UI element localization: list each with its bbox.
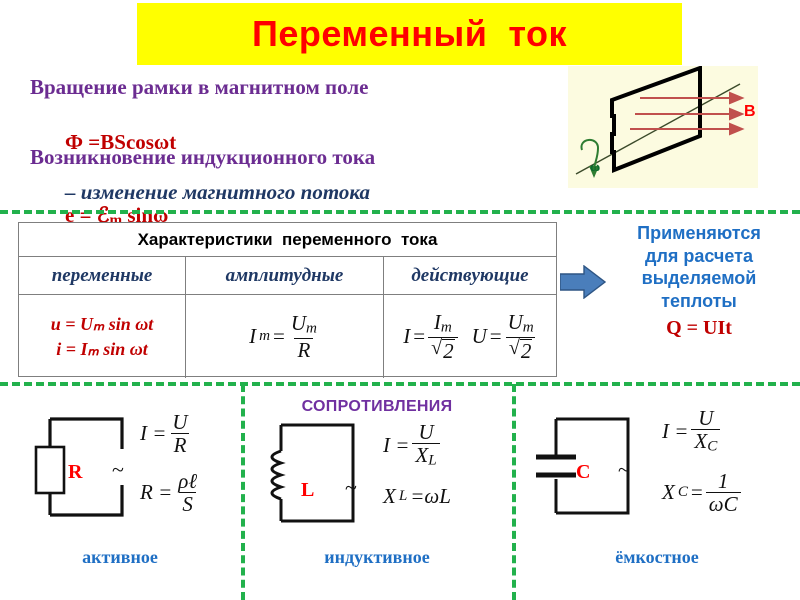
formula-i-instant: i = Iₘ sin ωt [56,339,148,360]
resistor-symbol [36,447,64,493]
section-heading-resistances: СОПРОТИВЛЕНИЯ [243,398,511,416]
ac-source-symbol-l: ~ [345,475,357,501]
wire-frame-path [612,68,700,170]
component-label-c: C [576,461,590,484]
formula-xc-definition: XC = 1 ωC [662,470,741,515]
characteristics-table: Характеристики переменного тока переменн… [18,222,557,377]
intro-heading-induction: Возникновение индукционного тока [30,145,375,170]
formula-u-effective: U= Um √2 [472,311,537,362]
panel-capacitive: C ~ I = U XC XC = 1 ωC ёмкостное [514,385,800,600]
table-title: Характеристики переменного тока [19,223,556,257]
component-label-l: L [301,479,314,502]
panel-label-capacitive: ёмкостное [514,547,800,568]
panel-resistive: R ~ I = U R R = ρℓ S активное [0,385,240,600]
formula-i-effective: I= Im √2 [403,311,457,362]
cell-amplitude-formula: Im = Um R [186,295,384,378]
omega-label: ω [590,160,600,176]
table-body-row: u = Uₘ sin ωt i = Iₘ sin ωt Im = Um R I= [19,295,556,378]
application-callout: Применяются для расчета выделяемой тепло… [600,222,798,341]
formula-u-instant: u = Uₘ sin ωt [51,314,154,335]
magnetic-field-arrows [630,93,742,134]
formulas-inductive: I = U XL XL =ωL [383,421,451,509]
ac-source-symbol-c: ~ [618,457,630,483]
divider-top [0,210,800,214]
panel-label-inductive: индуктивное [243,547,511,568]
panel-label-resistive: активное [0,547,240,568]
callout-formula-heat: Q = UIt [600,316,798,341]
formula-resistivity: R = ρℓ S [140,470,200,515]
formulas-resistive: I = U R R = ρℓ S [140,411,200,515]
component-label-r: R [68,461,82,484]
column-header-effective: действующие [384,257,556,294]
formula-current-xc: I = U XC [662,407,741,456]
magnetic-field-label: B [744,103,756,121]
formula-ohm-law: I = U R [140,411,200,456]
column-header-amplitude: амплитудные [186,257,384,294]
callout-line-3: выделяемой [600,267,798,290]
table-column-headers: переменные амплитудные действующие [19,257,556,295]
callout-line-4: теплоты [600,290,798,313]
formula-xl-definition: XL =ωL [383,484,451,509]
callout-line-1: Применяются [600,222,798,245]
slide-canvas: Переменный ток Вращение рамки в магнитно… [0,0,800,600]
callout-line-2: для расчета [600,245,798,268]
formula-current-xl: I = U XL [383,421,451,470]
formulas-capacitive: I = U XC XC = 1 ωC [662,407,741,515]
column-header-variable: переменные [19,257,186,294]
cell-variable-formulas: u = Uₘ sin ωt i = Iₘ sin ωt [19,295,186,378]
page-title: Переменный ток [137,6,682,62]
cell-effective-formulas: I= Im √2 U= Um √2 [384,295,556,378]
intro-heading-rotation: Вращение рамки в магнитном поле [30,75,368,100]
inductor-coil-symbol [272,451,281,499]
formula-im-equals: Im = Um R [249,312,320,361]
panel-inductive: СОПРОТИВЛЕНИЯ L ~ I = U XL XL =ωL индукт… [243,385,511,600]
ac-source-symbol-r: ~ [112,457,124,483]
